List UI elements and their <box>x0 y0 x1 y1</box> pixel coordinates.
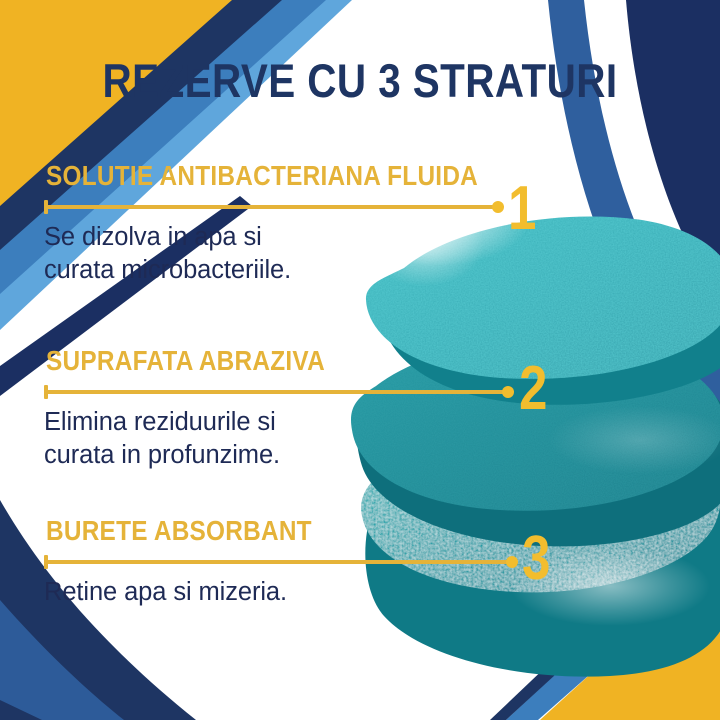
leader-rule-1 <box>46 205 498 209</box>
feature-body-2: Elimina reziduurile si curata in profunz… <box>44 406 514 471</box>
feature-block-1: SOLUTIE ANTIBACTERIANA FLUIDA Se dizolva… <box>44 162 514 286</box>
feature-numeral-2: 2 <box>519 358 547 420</box>
leader-line-1 <box>44 199 514 215</box>
feature-numeral-3: 3 <box>522 528 550 590</box>
page-title: REZERVE CU 3 STRATURI <box>50 57 669 104</box>
feature-block-2: SUPRAFATA ABRAZIVA Elimina reziduurile s… <box>44 347 514 471</box>
infographic-poster: REZERVE CU 3 STRATURI SOLUTIE ANTIBACTER… <box>0 0 720 720</box>
leader-rule-3 <box>46 560 512 564</box>
leader-line-3 <box>44 554 514 570</box>
feature-body-1: Se dizolva in apa si curata microbacteri… <box>44 221 514 286</box>
leader-line-2 <box>44 384 514 400</box>
feature-heading-3: BURETE ABSORBANT <box>46 517 453 545</box>
feature-numeral-1: 1 <box>508 178 536 240</box>
feature-block-3: BURETE ABSORBANT Retine apa si mizeria. <box>44 517 514 609</box>
leader-rule-2 <box>46 390 508 394</box>
feature-heading-2: SUPRAFATA ABRAZIVA <box>46 347 453 375</box>
leader-dot-2 <box>502 386 514 398</box>
leader-dot-3 <box>506 556 518 568</box>
feature-body-3: Retine apa si mizeria. <box>44 576 514 609</box>
feature-heading-1: SOLUTIE ANTIBACTERIANA FLUIDA <box>46 162 453 190</box>
leader-dot-1 <box>492 201 504 213</box>
